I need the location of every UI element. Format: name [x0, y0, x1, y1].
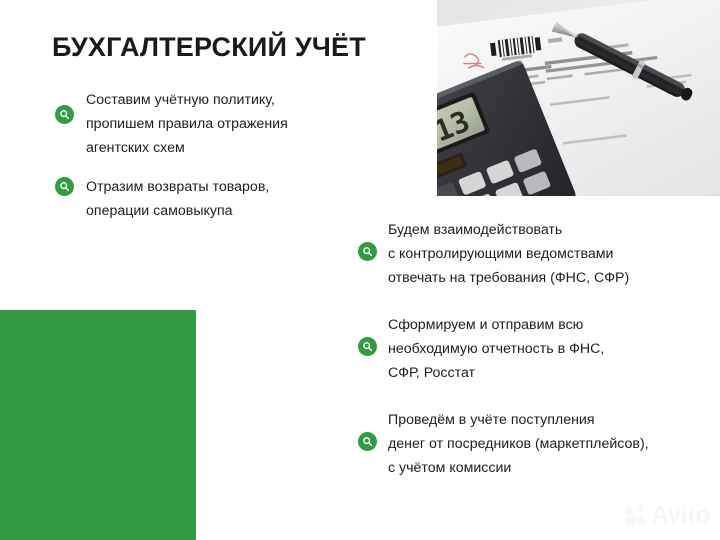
- search-icon: [358, 242, 377, 261]
- list-item-label: Проведём в учёте поступления денег от по…: [388, 408, 708, 480]
- green-accent-block: [0, 310, 196, 540]
- search-icon: [358, 337, 377, 356]
- list-item-label: Составим учётную политику, пропишем прав…: [86, 88, 361, 160]
- search-icon: [55, 105, 74, 124]
- page-title: БУХГАЛТЕРСКИЙ УЧЁТ: [52, 32, 366, 63]
- search-icon: [358, 432, 377, 451]
- slide-canvas: 13: [0, 0, 720, 540]
- list-item-label: Отразим возвраты товаров, операции самов…: [86, 175, 361, 223]
- list-item: Проведём в учёте поступления денег от по…: [358, 408, 708, 480]
- list-item: Составим учётную политику, пропишем прав…: [55, 88, 361, 160]
- avito-watermark: Avito: [625, 503, 710, 528]
- list-item: Сформируем и отправим всю необходимую от…: [358, 313, 708, 385]
- header-photo: 13: [437, 0, 720, 196]
- list-item-label: Будем взаимодействовать с контролирующим…: [388, 218, 708, 290]
- avito-dots-logo-icon: [625, 505, 649, 527]
- list-item-label: Сформируем и отправим всю необходимую от…: [388, 313, 708, 385]
- search-icon: [55, 177, 74, 196]
- avito-watermark-label: Avito: [651, 503, 710, 528]
- list-item: Отразим возвраты товаров, операции самов…: [55, 175, 361, 223]
- photo-illustration: 13: [437, 0, 720, 196]
- list-item: Будем взаимодействовать с контролирующим…: [358, 218, 708, 290]
